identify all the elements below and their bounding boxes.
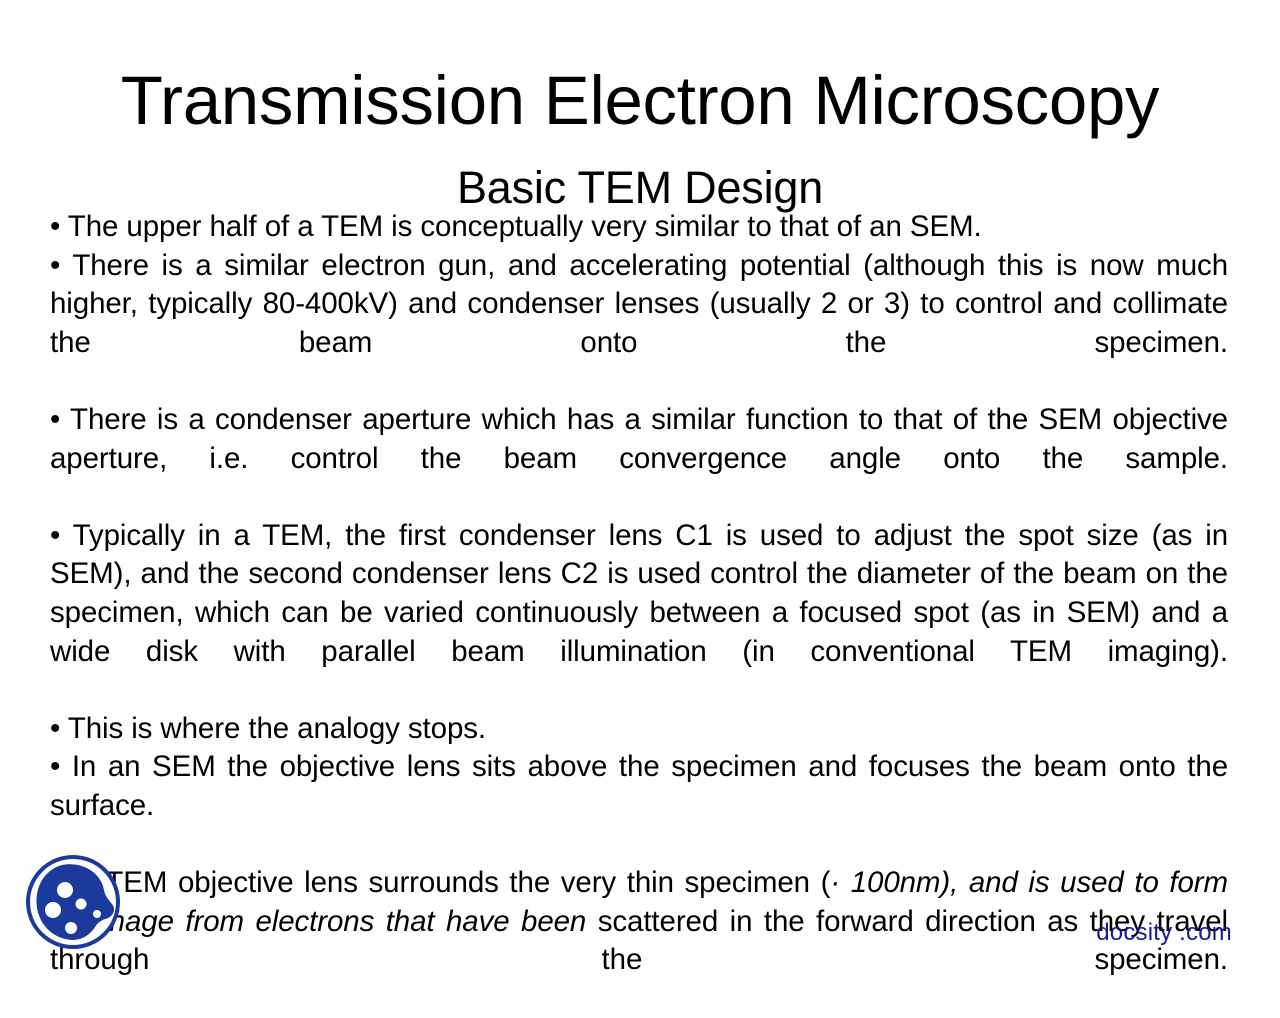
slide-body: • The upper half of a TEM is conceptuall… bbox=[50, 208, 1228, 1018]
docsity-brand-text: docsity .com bbox=[1096, 918, 1232, 948]
page-title: Transmission Electron Microscopy bbox=[0, 60, 1280, 142]
bullet-condenser-lenses-c1-c2: • Typically in a TEM, the first condense… bbox=[50, 517, 1228, 710]
slide-canvas: Transmission Electron Microscopy Basic T… bbox=[0, 0, 1280, 960]
bullet-electron-gun: • There is a similar electron gun, and a… bbox=[50, 247, 1228, 401]
bullet-sem-objective-lens: • In an SEM the objective lens sits abov… bbox=[50, 748, 1228, 864]
bullet-upper-half: • The upper half of a TEM is conceptuall… bbox=[50, 208, 1228, 247]
bullet-tem-run-plain-first: • In TEM objective lens surrounds the ve… bbox=[50, 866, 830, 899]
bullet-tem-objective-lens: • In TEM objective lens surrounds the ve… bbox=[50, 864, 1228, 1018]
bullet-condenser-aperture: • There is a condenser aperture which ha… bbox=[50, 401, 1228, 517]
docsity-logo bbox=[20, 852, 128, 952]
bullet-analogy-stops: • This is where the analogy stops. bbox=[50, 710, 1228, 749]
